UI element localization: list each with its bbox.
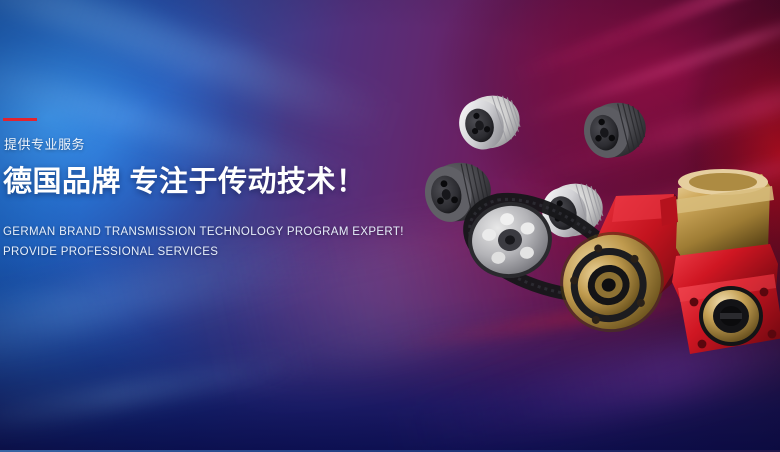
english-tagline: GERMAN BRAND TRANSMISSION TECHNOLOGY PRO… bbox=[3, 222, 423, 262]
promo-banner: 提供专业服务 德国品牌 专注于传动技术！ GERMAN BRAND TRANSM… bbox=[0, 0, 780, 452]
banner-copy-block: 提供专业服务 德国品牌 专注于传动技术！ GERMAN BRAND TRANSM… bbox=[3, 118, 423, 262]
english-tagline-line-1: GERMAN BRAND TRANSMISSION TECHNOLOGY PRO… bbox=[3, 222, 423, 242]
english-tagline-line-2: PROVIDE PROFESSIONAL SERVICES bbox=[3, 242, 423, 262]
kicker-text: 提供专业服务 bbox=[4, 137, 423, 152]
accent-rule bbox=[3, 118, 37, 121]
headline-text: 德国品牌 专注于传动技术！ bbox=[3, 166, 423, 198]
